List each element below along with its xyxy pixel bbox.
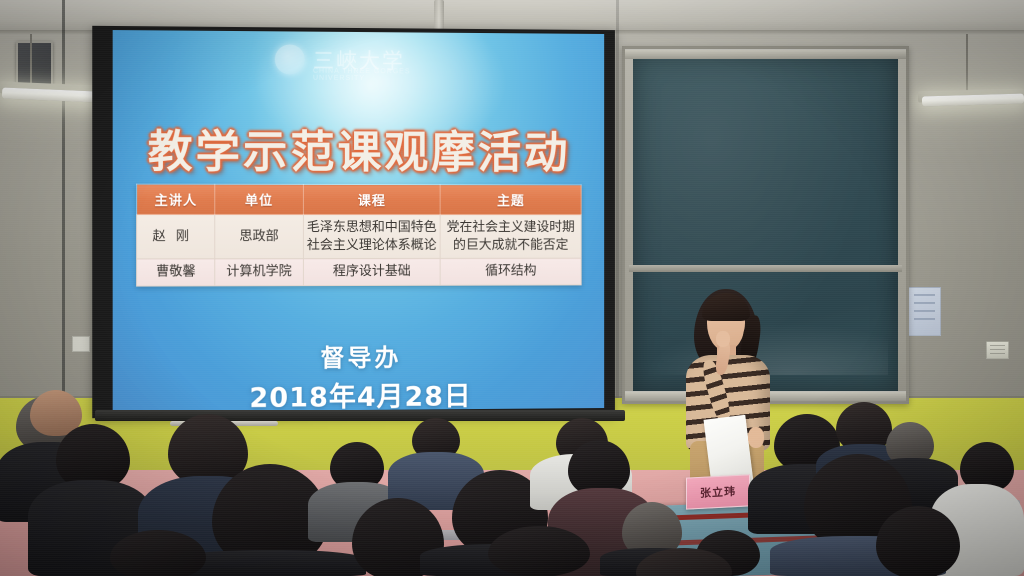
cell-unit-2: 计算机学院 xyxy=(215,259,303,286)
cell-course-2: 程序设计基础 xyxy=(303,258,440,285)
audience xyxy=(0,380,1024,576)
slide-organizer: 督导办 xyxy=(113,337,605,375)
cell-speaker-1: 赵刚 xyxy=(137,214,215,259)
classroom-scene: 三峽大学 CHINA THREE GORGES UNIVERSITY 教学示范课… xyxy=(0,0,1024,576)
table-row: 曹敬馨 计算机学院 程序设计基础 循环结构 xyxy=(137,258,582,285)
blackboard-rail-mid xyxy=(629,265,902,272)
cell-unit-1: 思政部 xyxy=(215,214,303,258)
presenter-hand-raised xyxy=(716,331,730,347)
slide-table: 主讲人 单位 课程 主题 赵刚 思政部 毛泽东思想和中国特色社会主义理论体系概论… xyxy=(136,184,582,287)
wall-seam-mid xyxy=(616,0,619,404)
projection-screen: 三峽大学 CHINA THREE GORGES UNIVERSITY 教学示范课… xyxy=(92,26,615,418)
light-rod-right xyxy=(966,34,968,92)
slide-surface: 三峽大学 CHINA THREE GORGES UNIVERSITY 教学示范课… xyxy=(113,30,605,412)
list-item xyxy=(488,526,590,576)
light-rod-left xyxy=(30,34,32,86)
slide-logo: 三峽大学 CHINA THREE GORGES UNIVERSITY xyxy=(275,41,435,78)
table-header-unit: 单位 xyxy=(215,184,303,214)
cell-course-1: 毛泽东思想和中国特色社会主义理论体系概论 xyxy=(303,214,440,258)
slide-title: 教学示范课观摩活动 xyxy=(113,115,605,181)
table-header-topic: 主题 xyxy=(440,185,581,215)
paper-notice xyxy=(908,287,941,336)
table-header-speaker: 主讲人 xyxy=(137,184,215,214)
cell-topic-1: 党在社会主义建设时期的巨大成就不能否定 xyxy=(440,215,581,259)
university-seal-icon xyxy=(275,44,305,74)
wall-plate-small xyxy=(72,336,90,352)
slide-logo-subtitle: CHINA THREE GORGES UNIVERSITY xyxy=(313,68,435,83)
cell-speaker-2: 曹敬馨 xyxy=(137,259,215,286)
table-header-row: 主讲人 单位 课程 主题 xyxy=(137,184,582,214)
blackboard-rail-top xyxy=(625,49,906,59)
cell-topic-2: 循环结构 xyxy=(440,258,581,285)
table-row: 赵刚 思政部 毛泽东思想和中国特色社会主义理论体系概论 党在社会主义建设时期的巨… xyxy=(137,214,582,259)
light-switch[interactable] xyxy=(986,341,1009,359)
table-header-course: 课程 xyxy=(303,184,440,214)
wall-seam-left xyxy=(62,0,65,404)
